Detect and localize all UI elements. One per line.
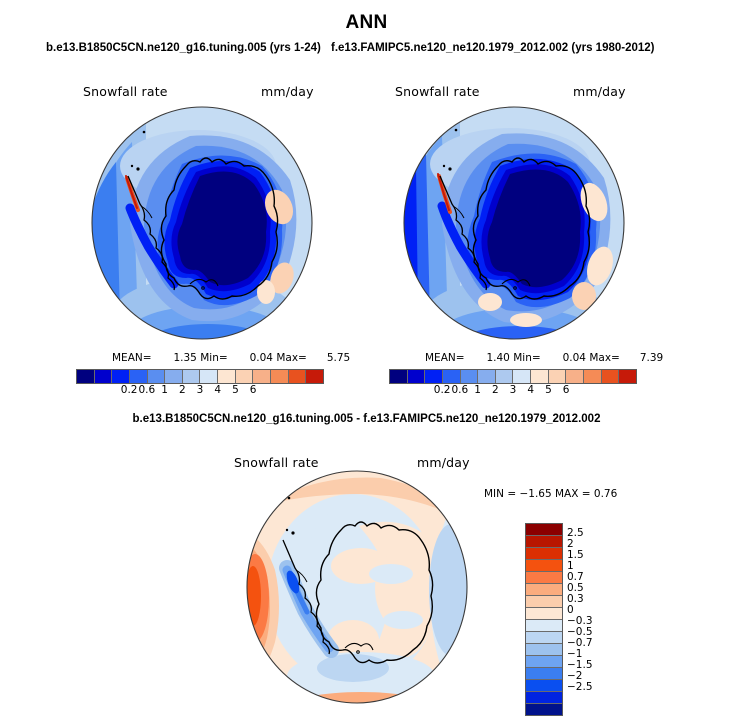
- colorbar-cell: [289, 370, 307, 383]
- colorbar-tick-label: 1: [161, 384, 168, 396]
- colorbar-cell: [513, 370, 531, 383]
- colorbar-cell: [408, 370, 426, 383]
- colorbar-cell: [526, 692, 562, 704]
- colorbar-tick-label: 0.2: [121, 384, 138, 396]
- colorbar-cell: [584, 370, 602, 383]
- left-max-key: Max=: [276, 352, 307, 364]
- colorbar-cell: [236, 370, 254, 383]
- colorbar-tick-label: 6: [563, 384, 570, 396]
- colorbar-cell: [271, 370, 289, 383]
- colorbar-cell: [443, 370, 461, 383]
- page-title: ANN: [0, 12, 733, 34]
- colorbar-cell: [526, 668, 562, 680]
- colorbar-cell: [526, 680, 562, 692]
- colorbar-tick-label: 5: [545, 384, 552, 396]
- colorbar-tick-label: 2: [492, 384, 499, 396]
- colorbar-tick-label: 5: [232, 384, 239, 396]
- colorbar-cell: [526, 620, 562, 632]
- difference-units-label: mm/day: [417, 455, 470, 470]
- colorbar-cell: [526, 596, 562, 608]
- difference-map[interactable]: [241, 470, 473, 704]
- left-colorbar-ticks: 0.20.6123456: [76, 384, 324, 400]
- colorbar-cell: [526, 572, 562, 584]
- colorbar-cell: [390, 370, 408, 383]
- colorbar-cell: [95, 370, 113, 383]
- right-min-value: 0.04: [544, 352, 586, 364]
- colorbar-tick-label: 3: [510, 384, 517, 396]
- colorbar-tick-label: 4: [214, 384, 221, 396]
- difference-minmax-label: MIN = −1.65 MAX = 0.76: [484, 488, 617, 500]
- left-variable-label: Snowfall rate: [83, 84, 168, 99]
- colorbar-cell: [566, 370, 584, 383]
- left-min-key: Min=: [200, 352, 227, 364]
- colorbar-cell: [148, 370, 166, 383]
- colorbar-cell: [526, 644, 562, 656]
- colorbar-cell: [218, 370, 236, 383]
- colorbar-cell: [165, 370, 183, 383]
- left-max-value: 5.75: [310, 352, 350, 364]
- left-mean-value: 1.35: [155, 352, 197, 364]
- colorbar-cell: [478, 370, 496, 383]
- colorbar-cell: [531, 370, 549, 383]
- colorbar-cell: [496, 370, 514, 383]
- left-stats-row: MEAN= 1.35 Min= 0.04 Max= 5.75: [112, 352, 350, 364]
- colorbar-cell: [526, 536, 562, 548]
- colorbar-cell: [425, 370, 443, 383]
- colorbar-cell: [526, 704, 562, 715]
- right-max-key: Max=: [589, 352, 620, 364]
- colorbar-cell: [200, 370, 218, 383]
- right-colorbar[interactable]: [389, 369, 637, 384]
- colorbar-tick-label: 3: [197, 384, 204, 396]
- colorbar-cell: [253, 370, 271, 383]
- colorbar-cell: [112, 370, 130, 383]
- left-model-map[interactable]: [86, 106, 318, 340]
- colorbar-cell: [183, 370, 201, 383]
- left-units-label: mm/day: [261, 84, 314, 99]
- colorbar-tick-label: 2: [179, 384, 186, 396]
- left-colorbar[interactable]: [76, 369, 324, 384]
- right-stats-row: MEAN= 1.40 Min= 0.04 Max= 7.39: [425, 352, 663, 364]
- colorbar-cell: [526, 548, 562, 560]
- colorbar-cell: [526, 584, 562, 596]
- right-colorbar-ticks: 0.20.6123456: [389, 384, 637, 400]
- colorbar-tick-label: 0.6: [138, 384, 155, 396]
- colorbar-tick-label: 0.6: [451, 384, 468, 396]
- right-mean-value: 1.40: [468, 352, 510, 364]
- colorbar-cell: [602, 370, 620, 383]
- left-mean-key: MEAN=: [112, 352, 152, 364]
- right-max-value: 7.39: [623, 352, 663, 364]
- difference-panel-title: b.e13.B1850C5CN.ne120_g16.tuning.005 - f…: [0, 413, 733, 425]
- left-min-value: 0.04: [231, 352, 273, 364]
- colorbar-cell: [526, 632, 562, 644]
- right-min-key: Min=: [513, 352, 540, 364]
- left-panel-subtitle: b.e13.B1850C5CN.ne120_g16.tuning.005 (yr…: [46, 42, 321, 54]
- colorbar-cell: [461, 370, 479, 383]
- colorbar-cell: [130, 370, 148, 383]
- difference-colorbar[interactable]: [525, 523, 563, 716]
- colorbar-cell: [77, 370, 95, 383]
- colorbar-cell: [526, 656, 562, 668]
- colorbar-cell: [549, 370, 567, 383]
- colorbar-tick-label: 0.2: [434, 384, 451, 396]
- colorbar-cell: [526, 560, 562, 572]
- colorbar-cell: [619, 370, 636, 383]
- right-panel-subtitle: f.e13.FAMIPC5.ne120_ne120.1979_2012.002 …: [331, 42, 655, 54]
- colorbar-cell: [526, 524, 562, 536]
- colorbar-tick-label: −2.5: [567, 681, 593, 693]
- right-variable-label: Snowfall rate: [395, 84, 480, 99]
- colorbar-cell: [306, 370, 323, 383]
- colorbar-tick-label: 4: [527, 384, 534, 396]
- difference-variable-label: Snowfall rate: [234, 455, 319, 470]
- right-obs-map[interactable]: [398, 106, 630, 340]
- colorbar-cell: [526, 608, 562, 620]
- colorbar-tick-label: 6: [250, 384, 257, 396]
- right-mean-key: MEAN=: [425, 352, 465, 364]
- right-units-label: mm/day: [573, 84, 626, 99]
- colorbar-tick-label: 1: [474, 384, 481, 396]
